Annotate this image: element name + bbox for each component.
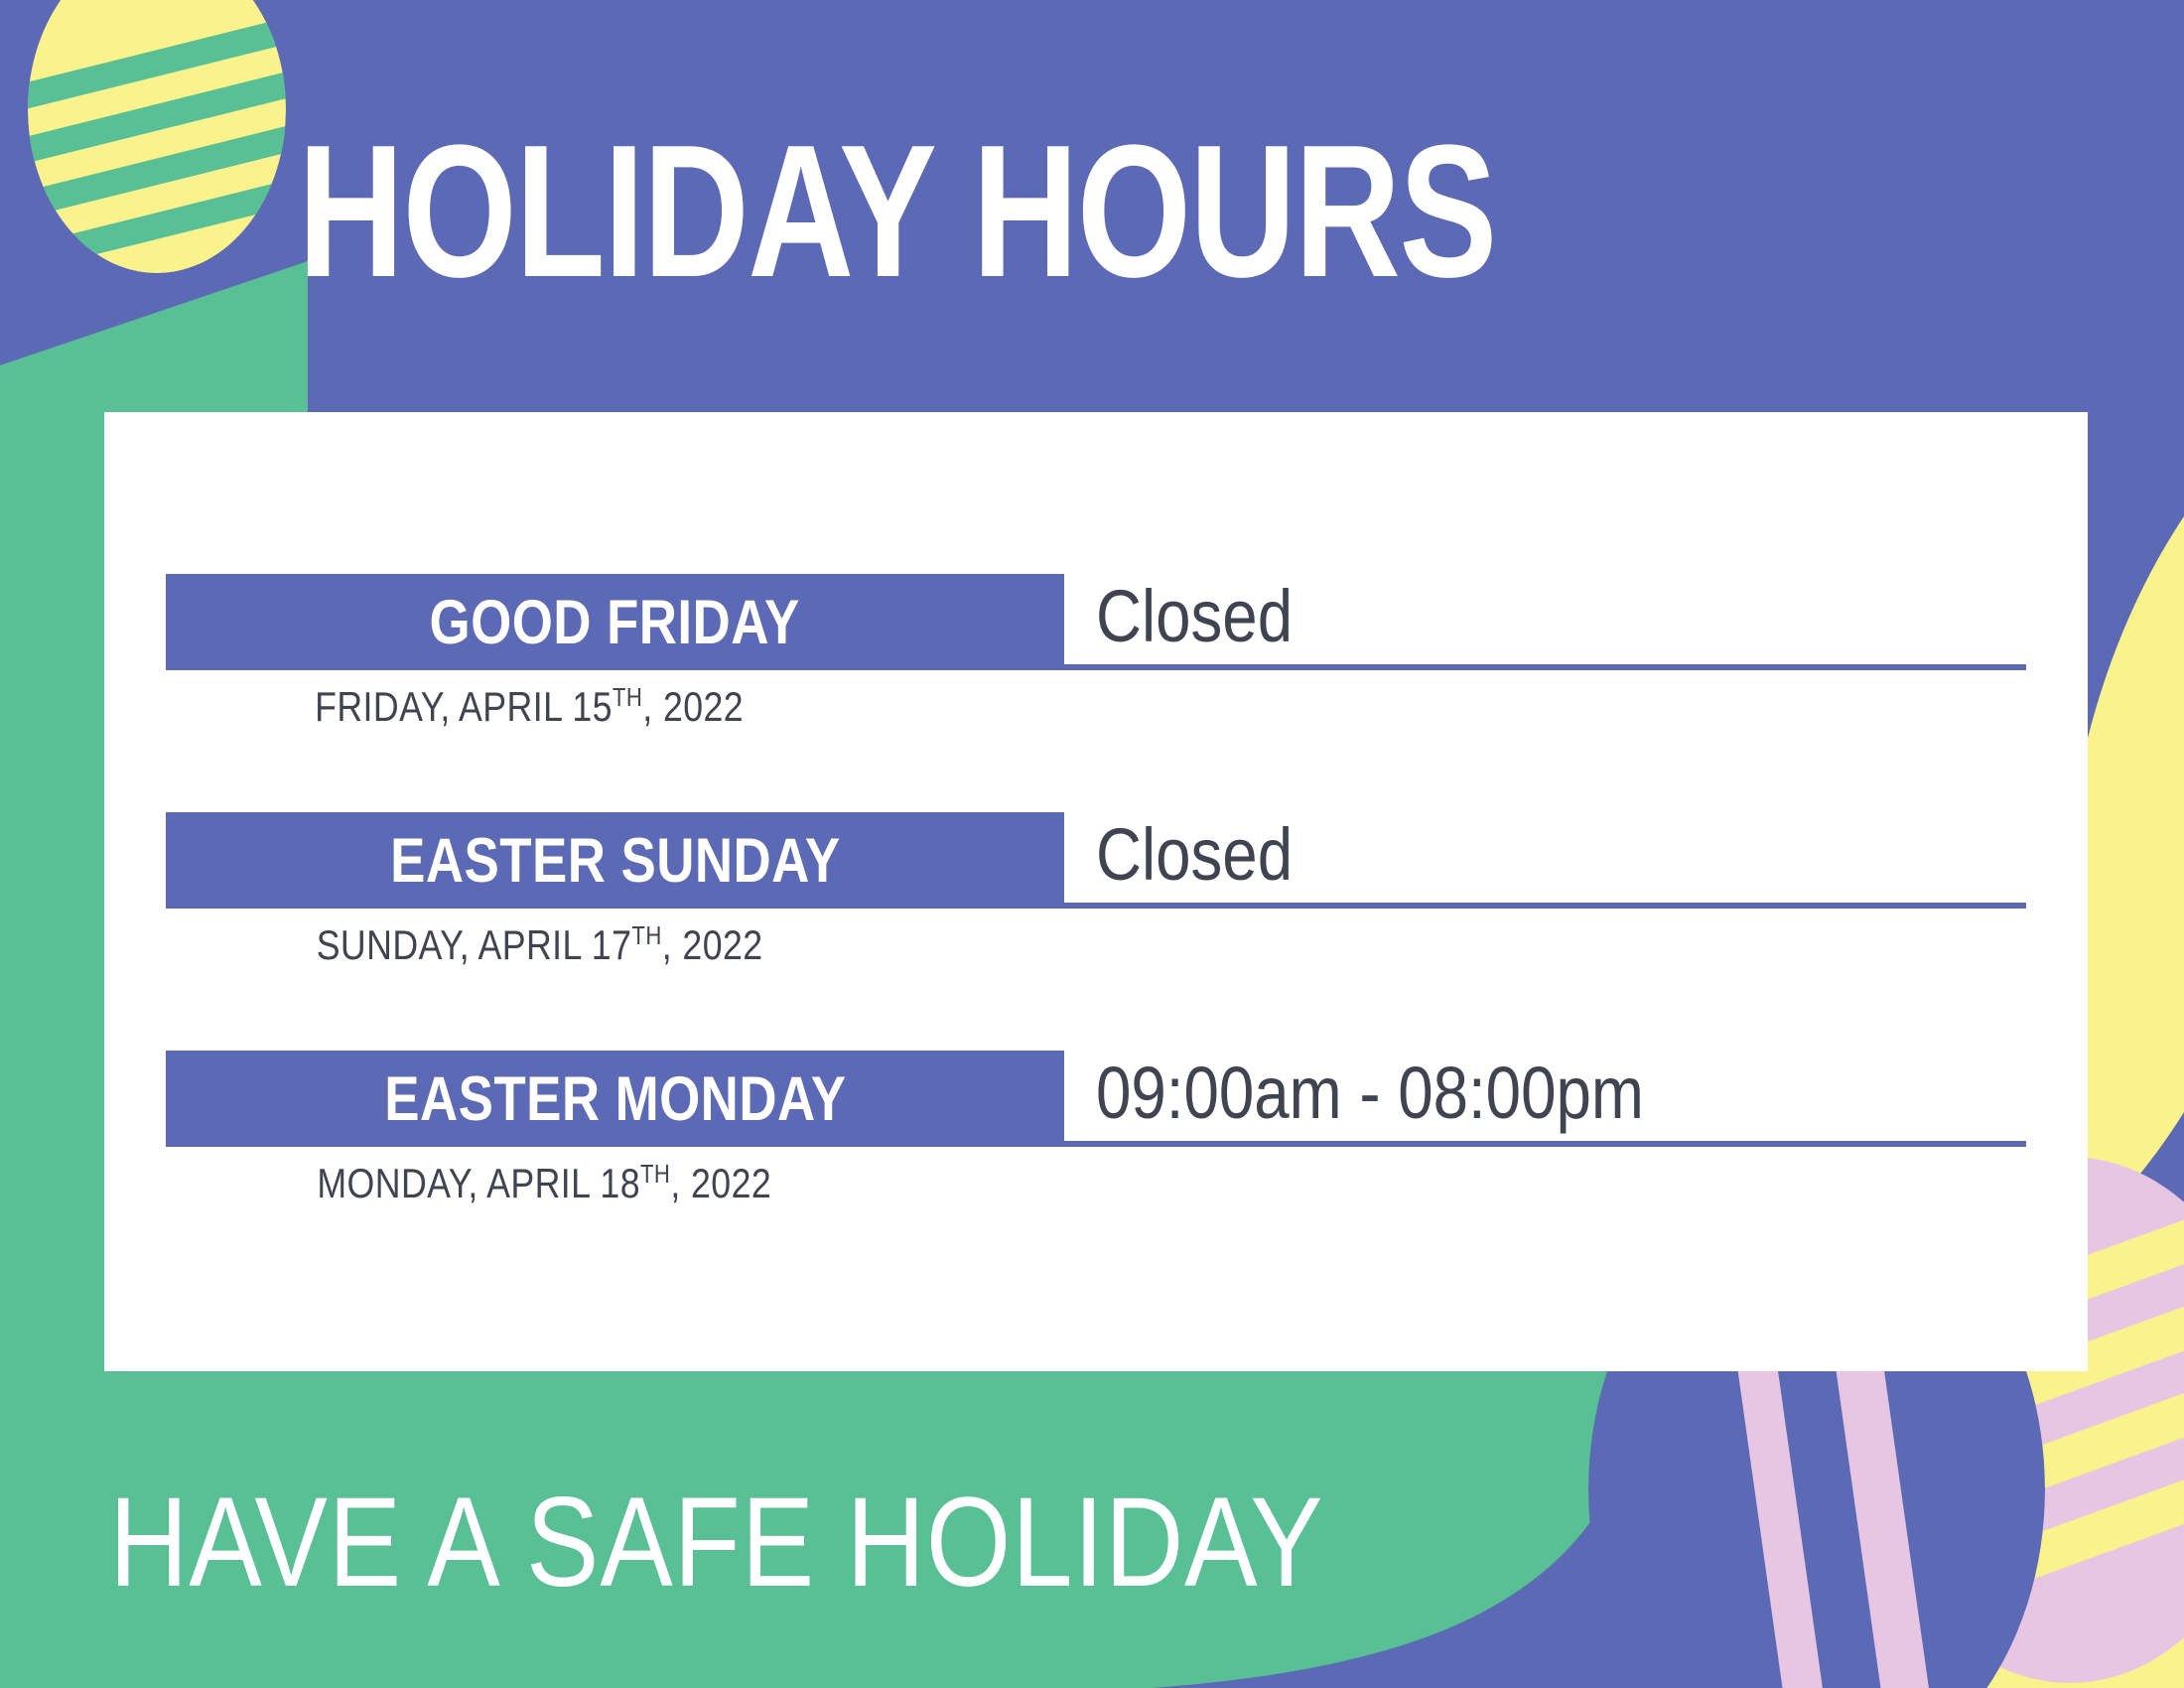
- row-main: EASTER MONDAY 09:00am - 08:00pm: [166, 1051, 2026, 1147]
- holiday-date-prefix: FRIDAY, APRIL 15: [315, 683, 613, 730]
- row-main: GOOD FRIDAY Closed: [166, 574, 2026, 670]
- holiday-date-ordinal: TH: [613, 682, 642, 712]
- holiday-date-ordinal: TH: [631, 920, 661, 950]
- footer-message: HAVE A SAFE HOLIDAY: [109, 1470, 1324, 1616]
- holiday-hours-value: 09:00am - 08:00pm: [1096, 1056, 1644, 1136]
- holiday-date: FRIDAY, APRIL 15TH, 2022: [166, 682, 2026, 731]
- holiday-name-bar: EASTER SUNDAY: [166, 812, 1064, 909]
- holiday-hours-cell: 09:00am - 08:00pm: [1064, 1051, 2026, 1147]
- schedule-rows: GOOD FRIDAY Closed FRIDAY, APRIL 15TH, 2…: [166, 574, 2026, 1289]
- table-row: EASTER SUNDAY Closed SUNDAY, APRIL 17TH,…: [166, 812, 2026, 1051]
- holiday-hours-value: Closed: [1096, 580, 1293, 659]
- page-title: HOLIDAY HOURS: [298, 117, 1614, 306]
- holiday-date-suffix: , 2022: [642, 683, 744, 730]
- holiday-hours-cell: Closed: [1064, 574, 2026, 670]
- row-main: EASTER SUNDAY Closed: [166, 812, 2026, 909]
- holiday-hours-value: Closed: [1096, 818, 1293, 898]
- holiday-hours-poster: HOLIDAY HOURS GOOD FRIDAY Closed FRIDAY,…: [0, 0, 2184, 1688]
- holiday-hours-cell: Closed: [1064, 812, 2026, 909]
- table-row: GOOD FRIDAY Closed FRIDAY, APRIL 15TH, 2…: [166, 574, 2026, 812]
- holiday-date: SUNDAY, APRIL 17TH, 2022: [166, 920, 2026, 969]
- table-row: EASTER MONDAY 09:00am - 08:00pm MONDAY, …: [166, 1051, 2026, 1289]
- holiday-date: MONDAY, APRIL 18TH, 2022: [166, 1159, 2026, 1207]
- holiday-date-prefix: MONDAY, APRIL 18: [317, 1160, 640, 1206]
- holiday-date-suffix: , 2022: [670, 1160, 771, 1206]
- holiday-date-suffix: , 2022: [662, 921, 763, 968]
- schedule-card: GOOD FRIDAY Closed FRIDAY, APRIL 15TH, 2…: [104, 412, 2088, 1371]
- holiday-name-label: GOOD FRIDAY: [430, 587, 800, 658]
- holiday-name-label: EASTER SUNDAY: [390, 825, 840, 897]
- holiday-name-bar: EASTER MONDAY: [166, 1051, 1064, 1147]
- holiday-date-prefix: SUNDAY, APRIL 17: [317, 921, 632, 968]
- holiday-name-bar: GOOD FRIDAY: [166, 574, 1064, 670]
- holiday-date-ordinal: TH: [640, 1159, 670, 1189]
- holiday-name-label: EASTER MONDAY: [384, 1063, 846, 1135]
